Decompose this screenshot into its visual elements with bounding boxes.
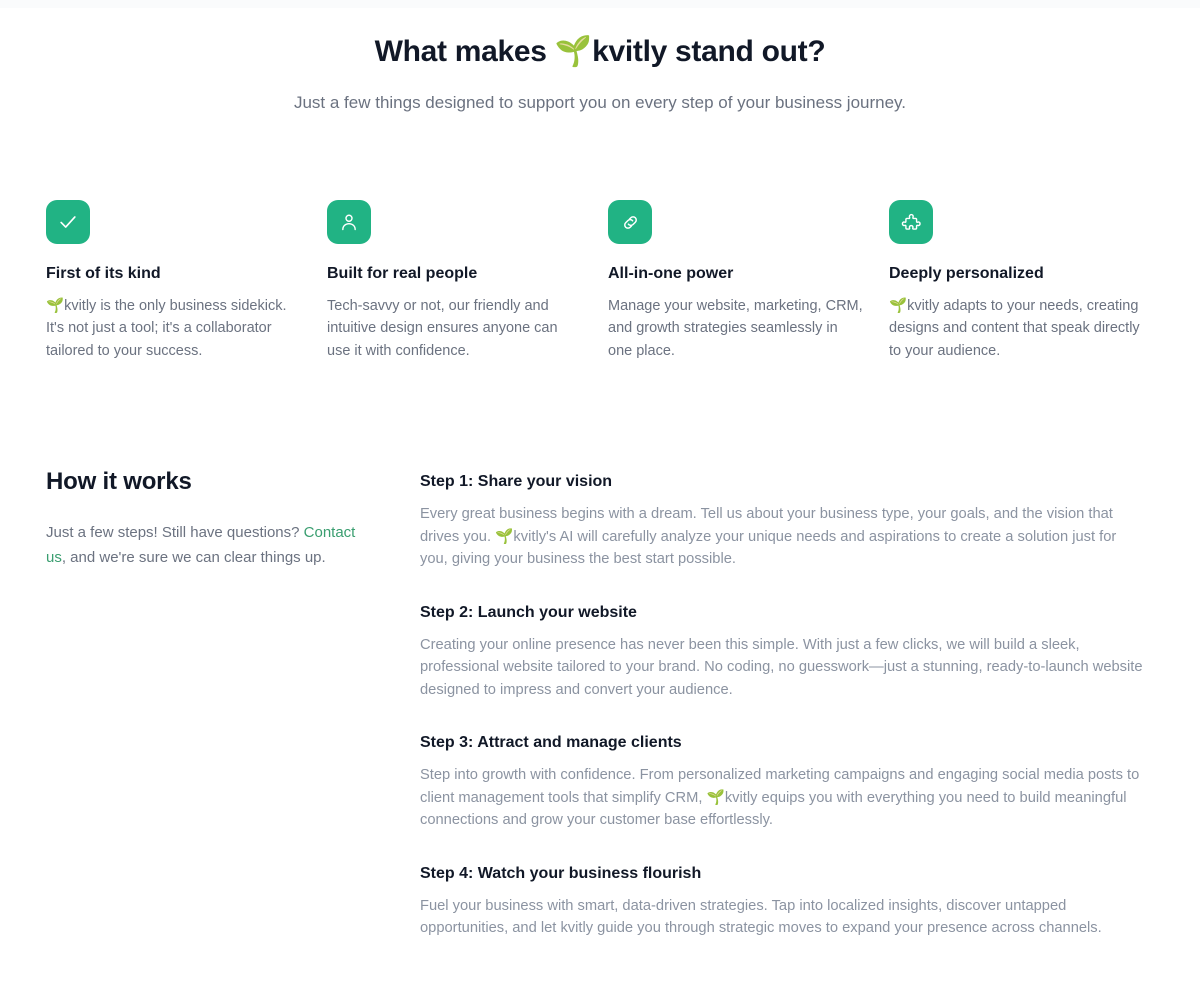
link-icon: [608, 200, 652, 244]
step-item: Step 2: Launch your website Creating you…: [420, 602, 1156, 702]
step-description: Every great business begins with a dream…: [420, 503, 1144, 571]
features-grid: First of its kind 🌱kvitly is the only bu…: [46, 200, 1154, 362]
seedling-icon: 🌱: [889, 298, 907, 314]
step-item: Step 3: Attract and manage clients Step …: [420, 732, 1156, 832]
feature-card-built-for-real-people: Built for real people Tech-savvy or not,…: [327, 200, 583, 362]
section-subtitle-prefix: Just a few steps! Still have questions?: [46, 524, 304, 541]
seedling-icon: 🌱: [707, 789, 725, 806]
step-title: Step 4: Watch your business flourish: [420, 863, 1156, 885]
step-title: Step 3: Attract and manage clients: [420, 732, 1156, 754]
how-it-works-intro: How it works Just a few steps! Still hav…: [46, 466, 420, 940]
step-description: Step into growth with confidence. From p…: [420, 764, 1144, 832]
feature-description-text: Manage your website, marketing, CRM, and…: [608, 298, 863, 359]
hero-block: What makes 🌱kvitly stand out? Just a few…: [0, 0, 1200, 115]
step-description: Creating your online presence has never …: [420, 634, 1144, 702]
feature-title: First of its kind: [46, 263, 302, 285]
check-icon: [46, 200, 90, 244]
section-title: How it works: [46, 466, 420, 498]
seedling-icon: 🌱: [555, 34, 592, 69]
feature-description: 🌱kvitly adapts to your needs, creating d…: [889, 295, 1145, 362]
step-title: Step 2: Launch your website: [420, 602, 1156, 624]
feature-description: Manage your website, marketing, CRM, and…: [608, 295, 864, 362]
seedling-icon: 🌱: [46, 298, 64, 314]
seedling-icon: 🌱: [495, 528, 513, 545]
feature-description-text: kvitly is the only business sidekick. It…: [46, 298, 286, 359]
feature-card-deeply-personalized: Deeply personalized 🌱kvitly adapts to yo…: [889, 200, 1145, 362]
page-title-suffix: kvitly stand out?: [592, 35, 825, 68]
step-description-part1: Fuel your business with smart, data-driv…: [420, 898, 1102, 937]
feature-description: Tech-savvy or not, our friendly and intu…: [327, 295, 583, 362]
step-description-part1: Creating your online presence has never …: [420, 637, 1143, 698]
user-icon: [327, 200, 371, 244]
feature-description: 🌱kvitly is the only business sidekick. I…: [46, 295, 302, 362]
feature-card-first-of-its-kind: First of its kind 🌱kvitly is the only bu…: [46, 200, 302, 362]
section-subtitle-suffix: , and we're sure we can clear things up.: [62, 549, 326, 566]
page-top-band: [0, 0, 1200, 8]
page-title: What makes 🌱kvitly stand out?: [0, 32, 1200, 72]
puzzle-icon: [889, 200, 933, 244]
section-subtitle: Just a few steps! Still have questions? …: [46, 520, 358, 570]
feature-description-text: kvitly adapts to your needs, creating de…: [889, 298, 1140, 359]
page-subtitle: Just a few things designed to support yo…: [0, 91, 1200, 115]
page-title-prefix: What makes: [375, 35, 555, 68]
step-item: Step 4: Watch your business flourish Fue…: [420, 863, 1156, 940]
step-item: Step 1: Share your vision Every great bu…: [420, 471, 1156, 571]
steps-list: Step 1: Share your vision Every great bu…: [420, 466, 1156, 940]
step-title: Step 1: Share your vision: [420, 471, 1156, 493]
feature-title: Deeply personalized: [889, 263, 1145, 285]
step-description-part2: kvitly's AI will carefully analyze your …: [420, 529, 1116, 568]
feature-card-all-in-one-power: All-in-one power Manage your website, ma…: [608, 200, 864, 362]
feature-title: Built for real people: [327, 263, 583, 285]
how-it-works-section: How it works Just a few steps! Still hav…: [46, 466, 1156, 940]
step-description: Fuel your business with smart, data-driv…: [420, 895, 1144, 940]
landing-page-section: What makes 🌱kvitly stand out? Just a few…: [0, 0, 1200, 1005]
feature-title: All-in-one power: [608, 263, 864, 285]
feature-description-text: Tech-savvy or not, our friendly and intu…: [327, 298, 558, 359]
